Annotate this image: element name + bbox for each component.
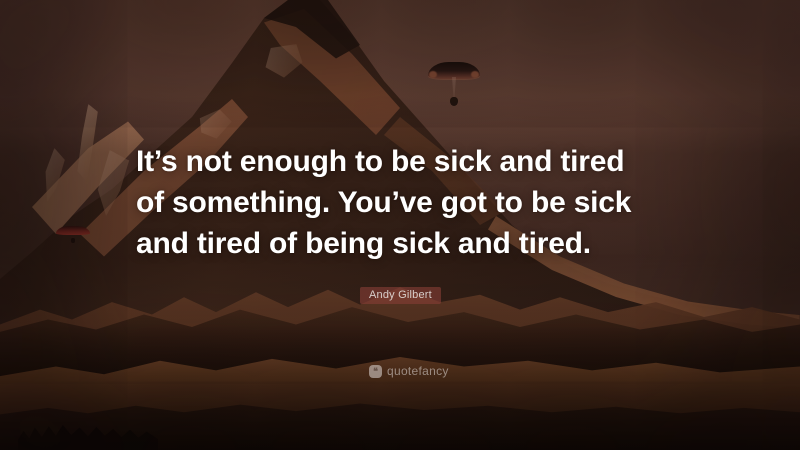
quote-line: and tired of being sick and tired. — [136, 223, 696, 264]
paraglider-main-icon — [428, 62, 480, 110]
paraglider-wingtip-left — [429, 71, 437, 78]
author-attribution: Andy Gilbert — [360, 287, 441, 304]
paraglider-left-icon — [56, 226, 90, 242]
watermark-brand-label: quotefancy — [387, 364, 449, 378]
quote-poster: It’s not enough to be sick and tired of … — [0, 0, 800, 450]
quote-text: It’s not enough to be sick and tired of … — [136, 141, 696, 264]
paraglider-wingtip-right — [471, 71, 479, 78]
paraglider-lines — [452, 77, 456, 98]
paraglider-pilot — [450, 97, 458, 106]
quote-line: of something. You’ve got to be sick — [136, 182, 696, 223]
quote-line: It’s not enough to be sick and tired — [136, 141, 696, 182]
paraglider-canopy — [56, 226, 90, 235]
watermark[interactable]: ❝ quotefancy — [369, 364, 449, 378]
paraglider-pilot — [71, 238, 75, 243]
quote-mark-icon: ❝ — [369, 365, 382, 378]
